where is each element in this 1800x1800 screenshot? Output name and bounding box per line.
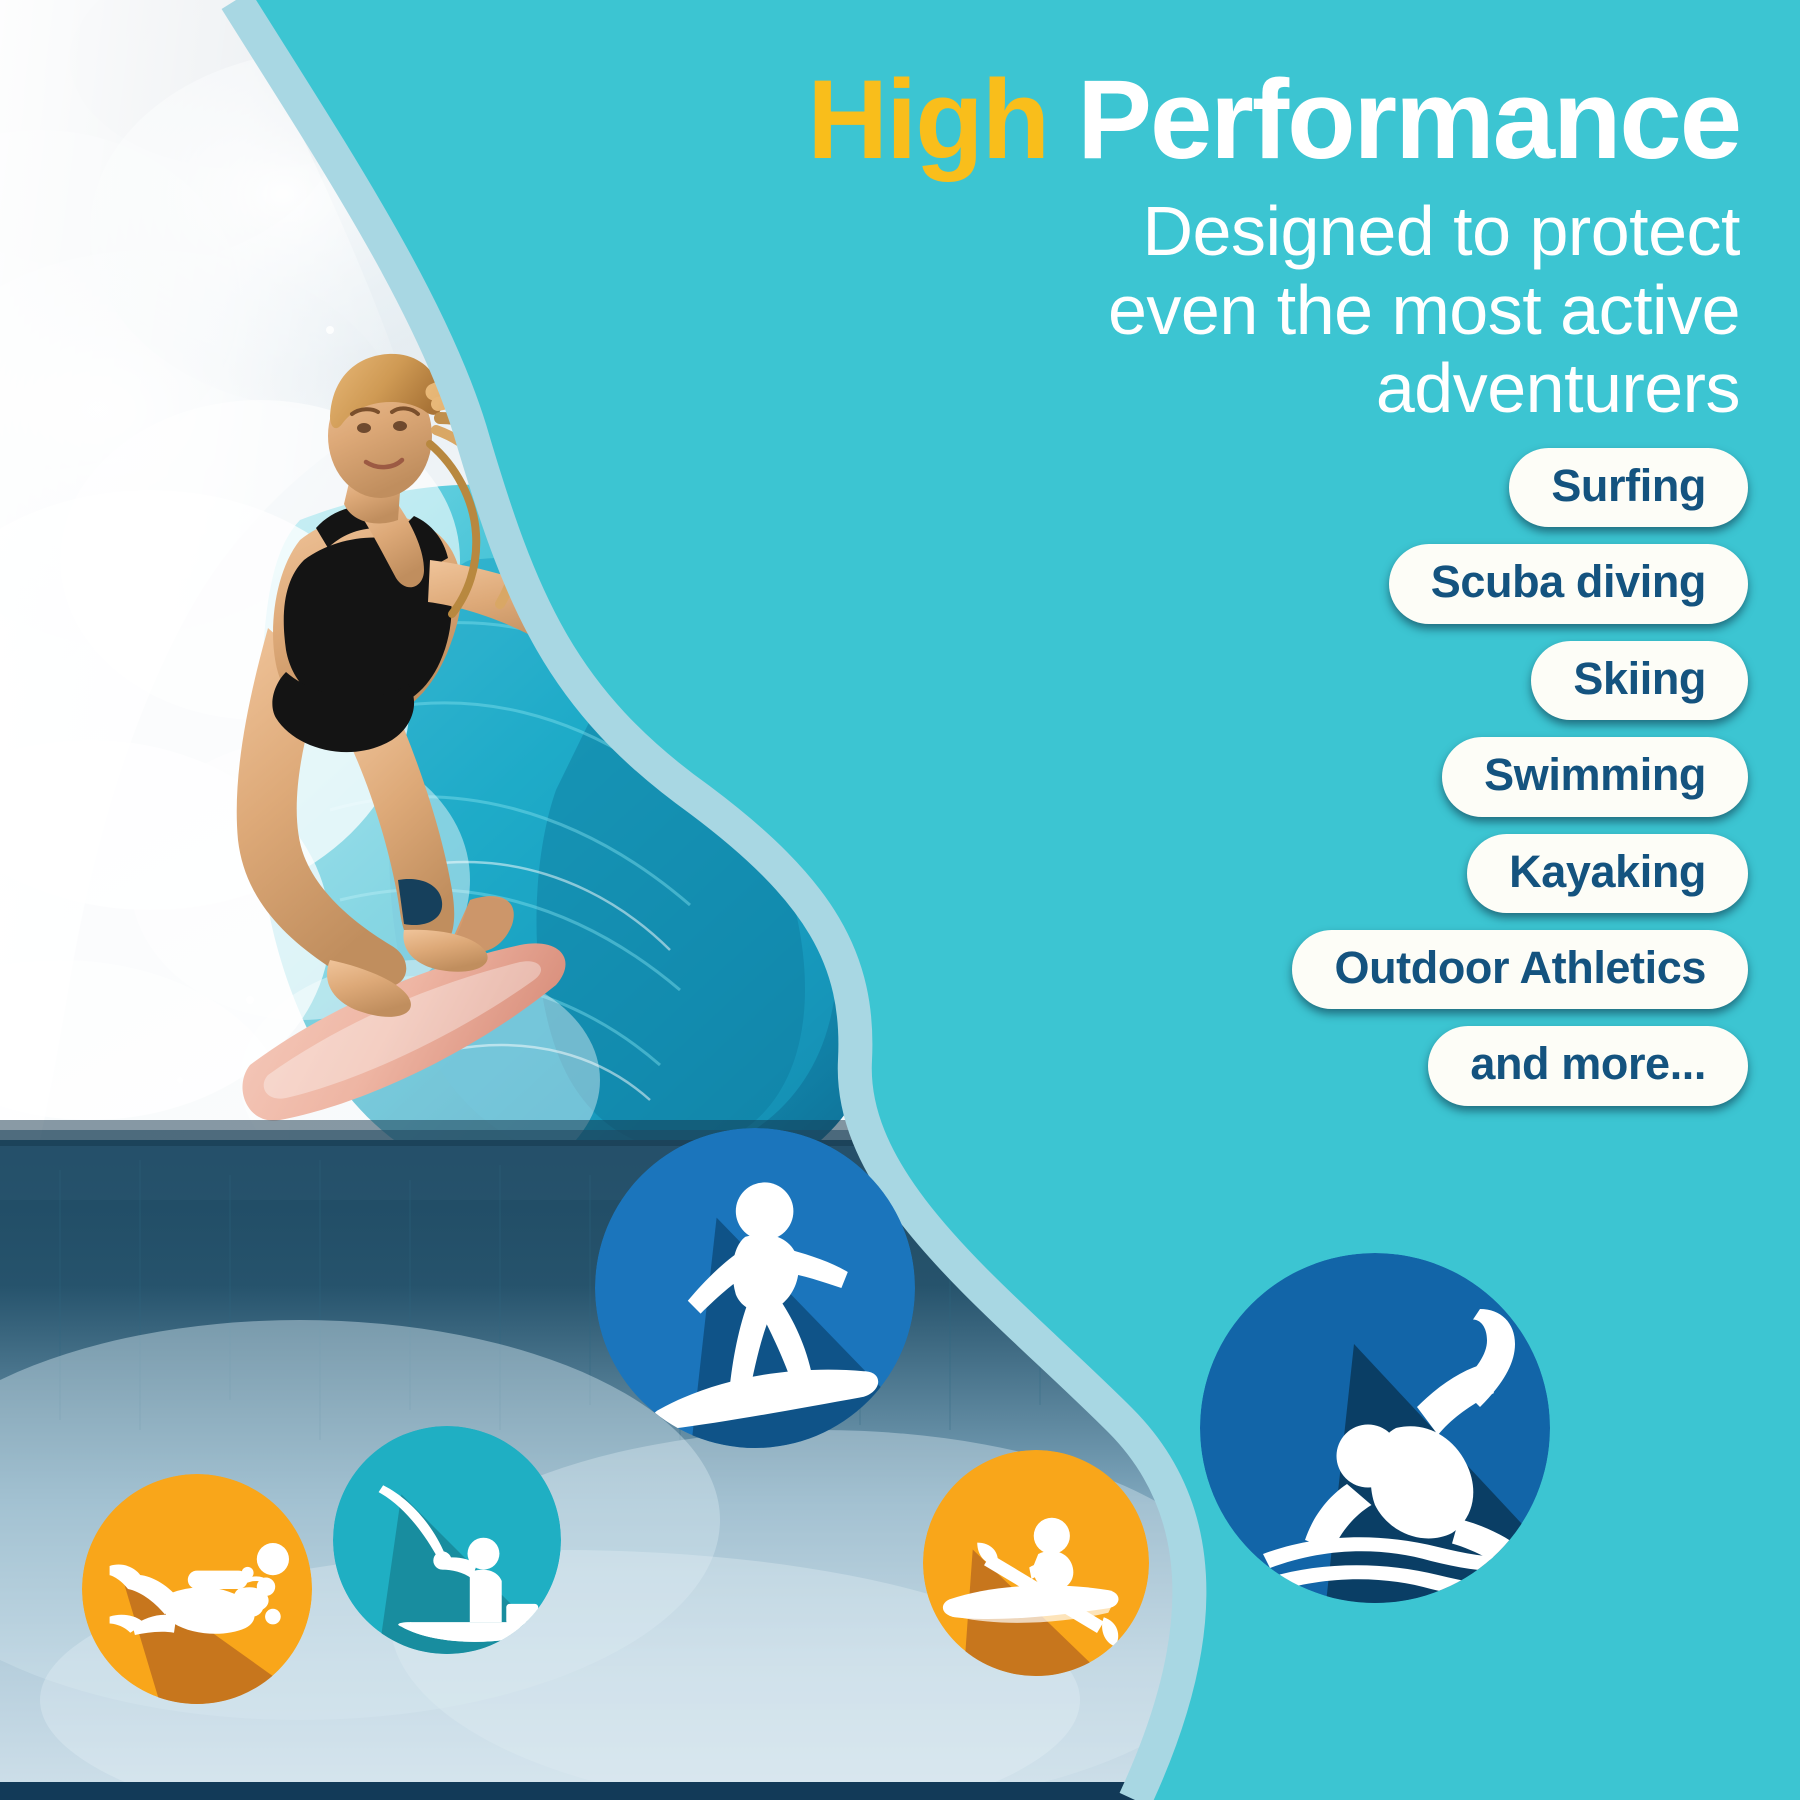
fishing-boat-icon[interactable]: [333, 1426, 561, 1654]
headline-block: High Performance Designed to protect eve…: [560, 62, 1740, 428]
headline-rest: Performance: [1077, 57, 1740, 182]
activity-pill-skiing[interactable]: Skiing: [1531, 641, 1748, 720]
scuba-diver-icon[interactable]: [82, 1474, 312, 1704]
page-title: High Performance: [560, 62, 1740, 178]
activity-pill-swimming[interactable]: Swimming: [1442, 737, 1748, 816]
activity-pill-list: Surfing Scuba diving Skiing Swimming Kay…: [988, 448, 1748, 1106]
activity-pill-and-more[interactable]: and more...: [1428, 1026, 1748, 1105]
activity-pill-kayaking[interactable]: Kayaking: [1467, 834, 1748, 913]
subheadline-line-1: Designed to protect: [560, 192, 1740, 270]
headline-accent-word: High: [807, 57, 1048, 182]
subheadline-line-3: adventurers: [560, 349, 1740, 427]
kayak-icon[interactable]: [923, 1450, 1149, 1676]
poster-canvas: High Performance Designed to protect eve…: [0, 0, 1800, 1800]
activity-pill-scuba-diving[interactable]: Scuba diving: [1389, 544, 1748, 623]
subheadline: Designed to protect even the most active…: [560, 192, 1740, 427]
surfer-icon[interactable]: [595, 1128, 915, 1448]
activity-pill-outdoor-athletics[interactable]: Outdoor Athletics: [1292, 930, 1748, 1009]
swimmer-icon[interactable]: [1200, 1253, 1550, 1603]
activity-pill-surfing[interactable]: Surfing: [1509, 448, 1748, 527]
subheadline-line-2: even the most active: [560, 271, 1740, 349]
